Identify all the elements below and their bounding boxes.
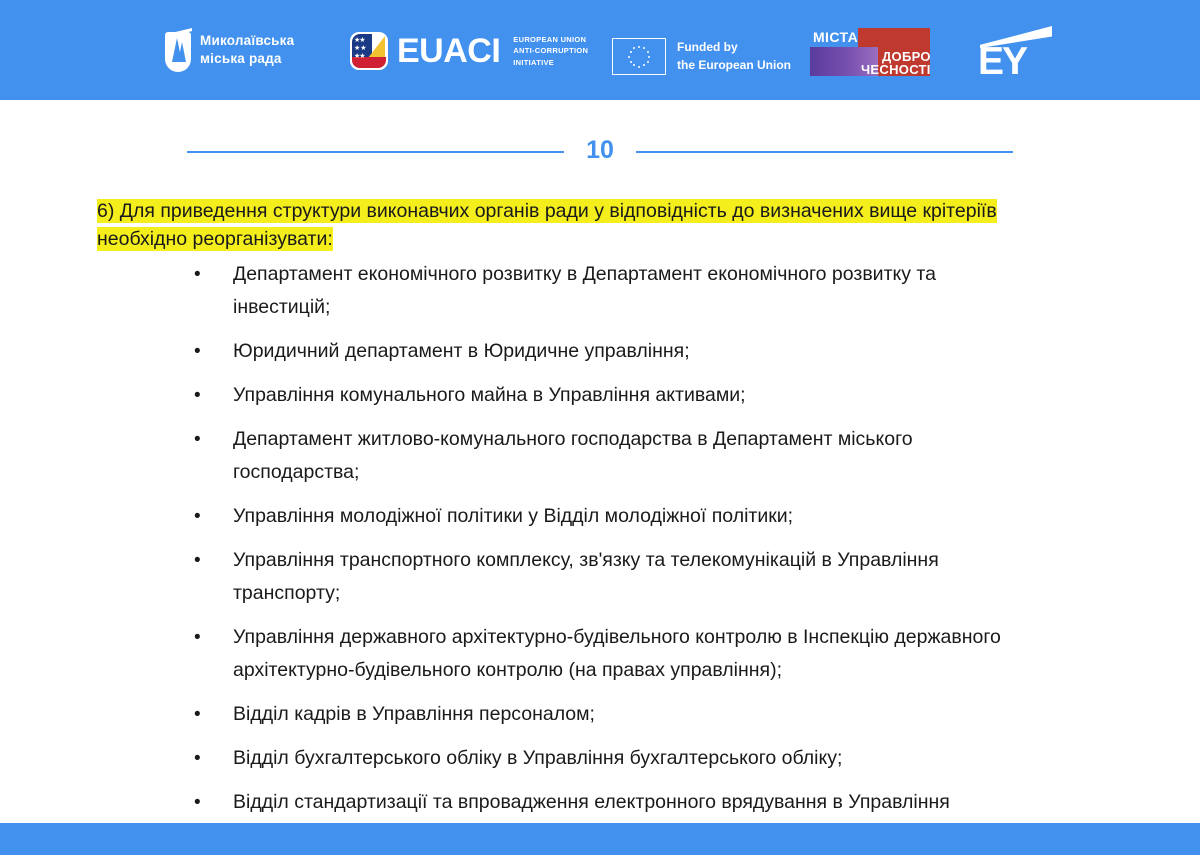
euaci-logo: ★★★ ★★★ EUACI EUROPEAN UNION ANTI-CORRUP… <box>350 32 588 70</box>
list-item: • Департамент економічного розвитку в Де… <box>190 258 1030 324</box>
bullet-marker-icon: • <box>190 742 233 775</box>
list-item: • Управління комунального майна в Управл… <box>190 379 1030 412</box>
bullet-marker-icon: • <box>190 335 233 368</box>
list-item-text: Управління молодіжної політики у Відділ … <box>233 500 1030 533</box>
list-item: • Відділ кадрів в Управління персоналом; <box>190 698 1030 731</box>
list-item-text: Управління державного архітектурно-будів… <box>233 621 1030 687</box>
list-item-text: Юридичний департамент в Юридичне управлі… <box>233 335 1030 368</box>
footer-band <box>0 823 1200 855</box>
ey-logo: EY <box>978 26 1054 78</box>
bullet-marker-icon: • <box>190 698 233 731</box>
list-item: • Управління транспортного комплексу, зв… <box>190 544 1030 610</box>
rule-right-divider <box>636 151 1013 153</box>
ey-wordmark: EY <box>978 42 1026 81</box>
funded-by-eu-line1: Funded by <box>677 39 791 56</box>
list-item: • Департамент житлово-комунального госпо… <box>190 423 1030 489</box>
list-item-text: Управління транспортного комплексу, зв'я… <box>233 544 1030 610</box>
mykolaiv-logo-line1: Миколаївська <box>200 32 294 50</box>
bullet-marker-icon: • <box>190 423 233 456</box>
list-item-text: Департамент економічного розвитку в Депа… <box>233 258 1030 324</box>
euaci-subtitle: EUROPEAN UNION ANTI-CORRUPTION INITIATIV… <box>513 34 588 68</box>
funded-by-eu-line2: the European Union <box>677 57 791 74</box>
bullet-marker-icon: • <box>190 379 233 412</box>
euaci-wordmark: EUACI <box>397 34 500 68</box>
mykolaiv-city-council-logo: Миколаївська міська рада <box>165 28 294 72</box>
reorganization-list: • Департамент економічного розвитку в Де… <box>190 258 1030 863</box>
intro-highlighted-text: 6) Для приведення структури виконавчих о… <box>97 199 997 251</box>
funded-by-eu-logo: Funded by the European Union <box>612 38 791 75</box>
mista-word-1: МІСТА <box>813 29 858 45</box>
page-number-rule: 10 <box>0 132 1200 172</box>
bullet-marker-icon: • <box>190 786 233 819</box>
list-item-text: Відділ бухгалтерського обліку в Управлін… <box>233 742 1030 775</box>
list-item: • Юридичний департамент в Юридичне управ… <box>190 335 1030 368</box>
euaci-subtitle-line3: INITIATIVE <box>513 57 588 68</box>
euaci-subtitle-line1: EUROPEAN UNION <box>513 34 588 45</box>
funded-by-eu-text: Funded by the European Union <box>677 39 791 74</box>
partner-logo-strip: Миколаївська міська рада ★★★ ★★★ EUACI E… <box>0 0 1200 100</box>
list-item: • Управління державного архітектурно-буд… <box>190 621 1030 687</box>
list-item-text: Департамент житлово-комунального господа… <box>233 423 1030 489</box>
mista-dobrochesnosti-logo: МІСТА ДОБРО ЧЕСНОСТІ <box>810 28 930 76</box>
header-band: Миколаївська міська рада ★★★ ★★★ EUACI E… <box>0 0 1200 100</box>
mykolaiv-shield-icon <box>165 28 191 72</box>
bullet-marker-icon: • <box>190 500 233 533</box>
eu-flag-icon <box>612 38 666 75</box>
page-number: 10 <box>564 138 636 163</box>
bullet-marker-icon: • <box>190 621 233 654</box>
rule-left-divider <box>187 151 564 153</box>
euaci-emblem-icon: ★★★ ★★★ <box>350 32 388 70</box>
mykolaiv-logo-line2: міська рада <box>200 50 294 68</box>
list-item: • Відділ бухгалтерського обліку в Управл… <box>190 742 1030 775</box>
mista-word-3: ЧЕСНОСТІ <box>861 62 931 77</box>
bullet-marker-icon: • <box>190 258 233 291</box>
list-item: • Управління молодіжної політики у Відді… <box>190 500 1030 533</box>
list-item-text: Управління комунального майна в Управлін… <box>233 379 1030 412</box>
euaci-subtitle-line2: ANTI-CORRUPTION <box>513 45 588 56</box>
mykolaiv-logo-text: Миколаївська міська рада <box>200 32 294 68</box>
intro-paragraph: 6) Для приведення структури виконавчих о… <box>97 198 1032 253</box>
list-item-text: Відділ кадрів в Управління персоналом; <box>233 698 1030 731</box>
bullet-marker-icon: • <box>190 544 233 577</box>
